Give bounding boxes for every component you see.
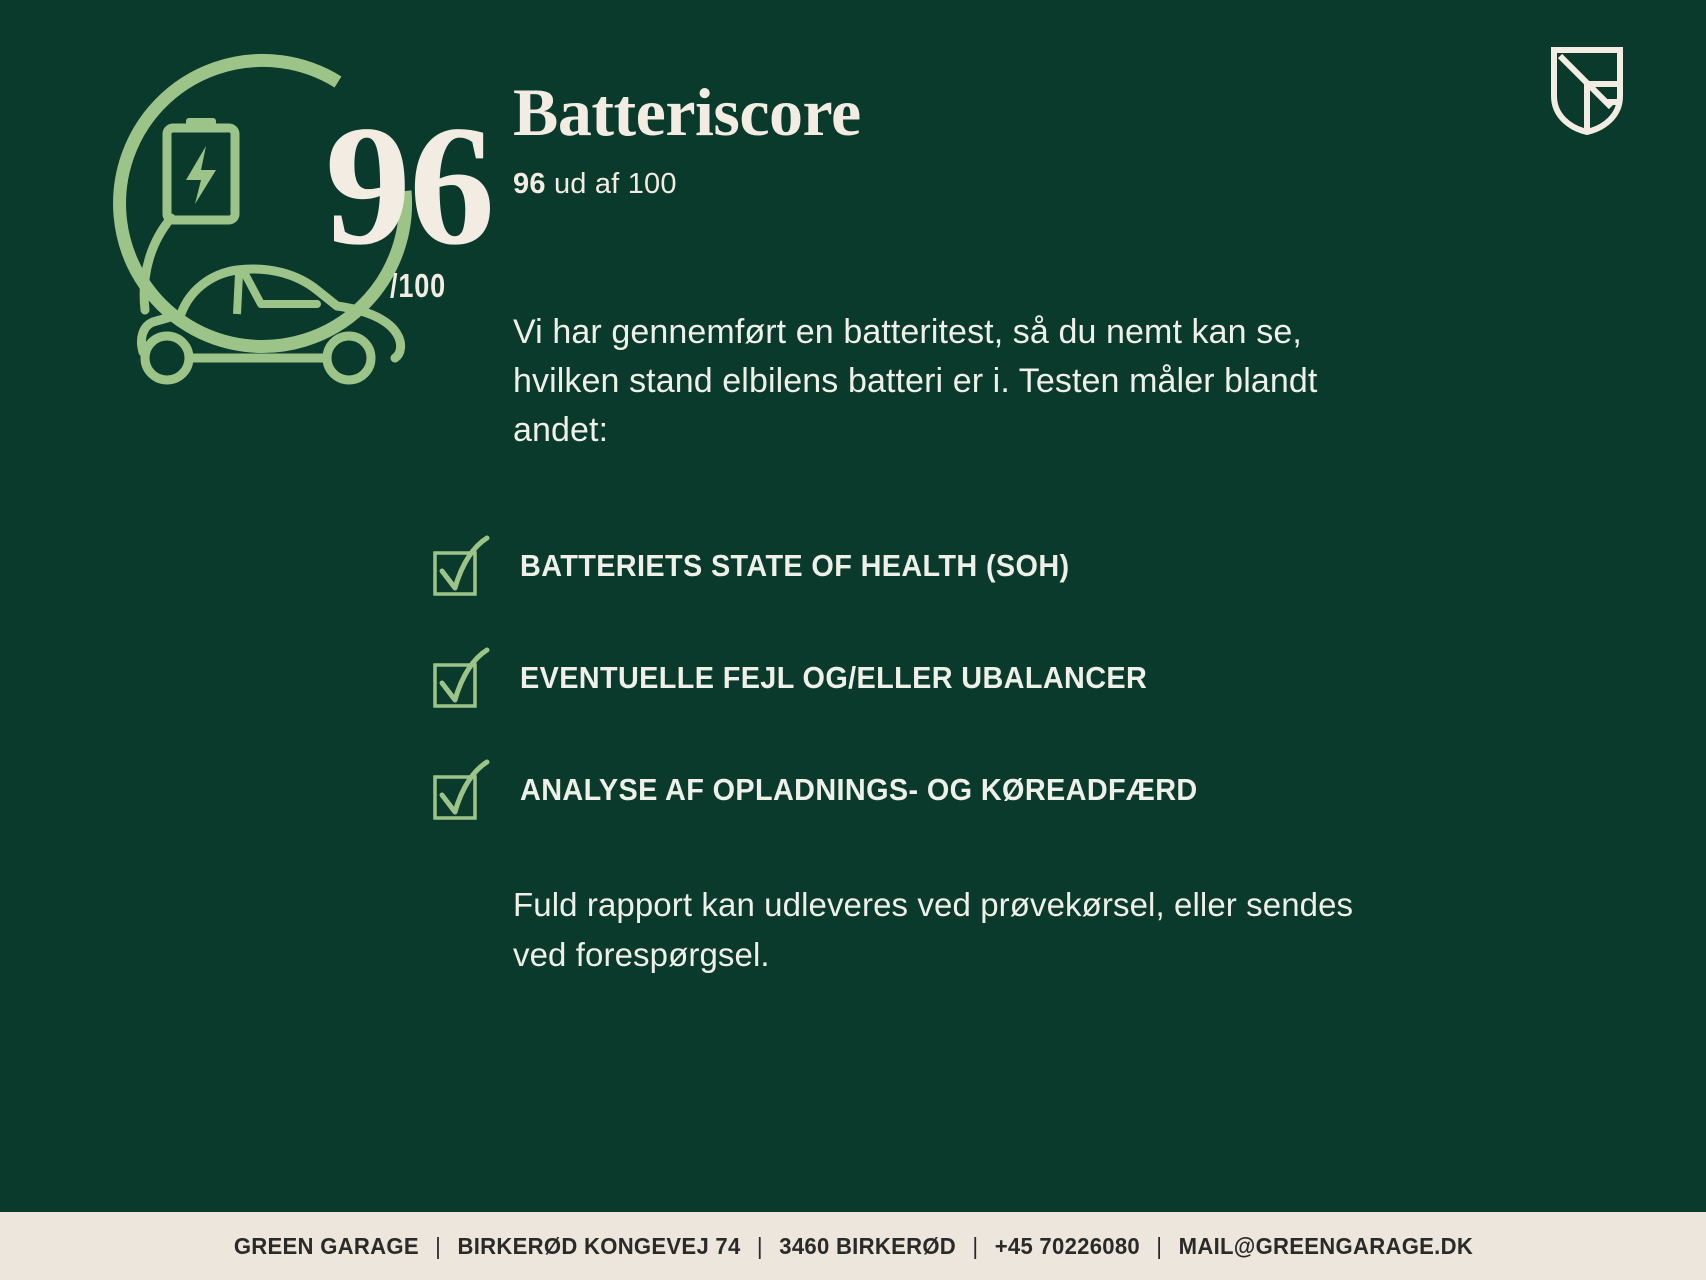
footer-contact-line: GREEN GARAGE | BIRKERØD KONGEVEJ 74 | 34… — [233, 1233, 1472, 1260]
outro-paragraph: Fuld rapport kan udleveres ved prøvekørs… — [513, 880, 1393, 980]
footer-street-address: BIRKERØD KONGEVEJ 74 — [457, 1233, 740, 1260]
footer-city: 3460 BIRKERØD — [779, 1233, 956, 1260]
footer-separator: | — [972, 1233, 978, 1260]
footer-email[interactable]: MAIL@GREENGARAGE.DK — [1178, 1233, 1472, 1260]
checklist-item: ANALYSE AF OPLADNINGS- OG KØREADFÆRD — [432, 734, 1432, 846]
footer-phone[interactable]: +45 70226080 — [994, 1233, 1139, 1260]
score-subtitle-value: 96 — [513, 168, 546, 200]
page-title: Batteriscore — [513, 78, 861, 146]
intro-paragraph: Vi har gennemført en batteritest, så du … — [513, 308, 1353, 455]
feature-checklist: BATTERIETS STATE OF HEALTH (SOH) EVENTUE… — [432, 510, 1432, 846]
checklist-item: EVENTUELLE FEJL OG/ELLER UBALANCER — [432, 622, 1432, 734]
checklist-item-label: EVENTUELLE FEJL OG/ELLER UBALANCER — [520, 660, 1147, 696]
footer-separator: | — [435, 1233, 441, 1260]
checklist-item-label: ANALYSE AF OPLADNINGS- OG KØREADFÆRD — [520, 772, 1198, 808]
score-value: 96 — [325, 100, 493, 272]
battery-score-card: 96 /100 Batteriscore 96 ud af 100 Vi har… — [0, 0, 1706, 1280]
checklist-item-label: BATTERIETS STATE OF HEALTH (SOH) — [520, 548, 1069, 584]
checkbox-checked-icon — [432, 759, 490, 821]
green-garage-shield-leaf-logo — [1548, 44, 1626, 136]
score-subtitle-text: ud af 100 — [554, 168, 677, 200]
footer-separator: | — [1156, 1233, 1162, 1260]
checklist-item: BATTERIETS STATE OF HEALTH (SOH) — [432, 510, 1432, 622]
score-denominator: /100 — [390, 267, 446, 305]
footer-separator: | — [756, 1233, 762, 1260]
contact-footer: GREEN GARAGE | BIRKERØD KONGEVEJ 74 | 34… — [0, 1212, 1706, 1280]
battery-score-badge: 96 /100 — [85, 52, 445, 402]
checkbox-checked-icon — [432, 647, 490, 709]
checkbox-checked-icon — [432, 535, 490, 597]
battery-bolt-icon — [167, 118, 235, 220]
footer-company-name: GREEN GARAGE — [233, 1233, 418, 1260]
score-subtitle: 96 ud af 100 — [513, 168, 677, 201]
